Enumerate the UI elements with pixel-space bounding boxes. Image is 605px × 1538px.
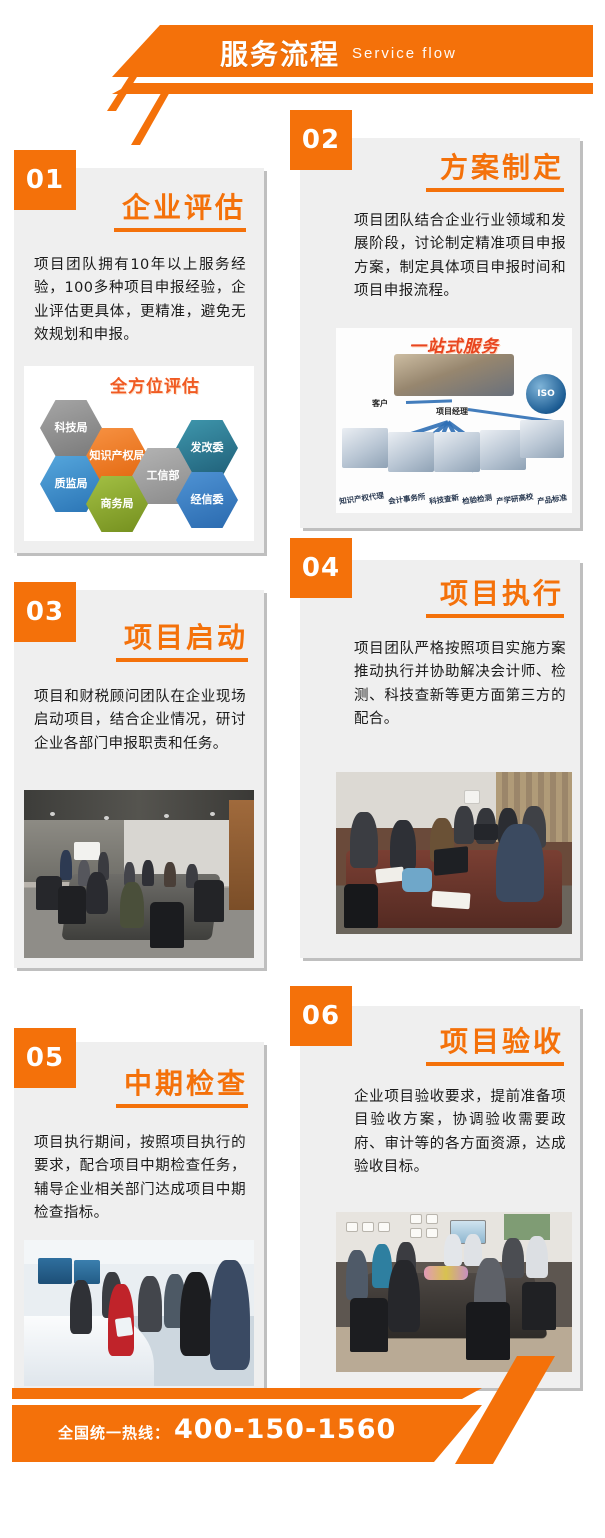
person	[502, 1238, 524, 1278]
ceiling-light	[50, 812, 55, 816]
one-stop-client-label: 客户	[372, 398, 388, 409]
card-title-rule-03	[116, 658, 248, 662]
card-title-rule-01	[114, 228, 246, 232]
document	[375, 867, 404, 884]
card-body-04: 项目团队严格按照项目实施方案推动执行并协助解决会计师、检测、科技查新等更方面第三…	[354, 638, 566, 732]
laptop	[434, 846, 468, 876]
process-card-02[interactable]: 02 方案制定 项目团队结合企业行业领域和发展阶段，讨论制定精准项目申报方案，制…	[300, 138, 580, 528]
hex-node-label: 科技局	[55, 422, 88, 435]
card-title-rule-06	[426, 1062, 564, 1066]
process-card-05[interactable]: 05 中期检查 项目执行期间，按照项目执行的要求，配合项目中期检查任务，辅导企业…	[14, 1042, 264, 1394]
ceiling-panel	[24, 790, 254, 820]
person-foreground	[496, 824, 544, 902]
hex-node-label: 经信委	[191, 494, 224, 507]
header-banner: 服务流程 Service flow	[0, 0, 605, 110]
card-title-01: 企业评估	[122, 186, 246, 226]
service-label: 产品标准	[536, 492, 567, 507]
person	[346, 1250, 368, 1300]
footer-banner: 全国统一热线： 400-150-1560	[0, 1388, 605, 1478]
service-photo-accounting	[388, 432, 434, 472]
card-header-05: 中期检查	[14, 1042, 264, 1120]
flowers	[424, 1266, 468, 1280]
person	[138, 1276, 162, 1332]
meeting-table-photo	[336, 772, 572, 934]
card-body-01: 项目团队拥有10年以上服务经验，100多种项目申报经验，企业评估更具体，更精准，…	[34, 254, 246, 348]
hex-node-label: 工信部	[147, 470, 180, 483]
wood-panel	[229, 800, 254, 910]
person-foreground	[86, 872, 108, 914]
photo-scene	[336, 1212, 572, 1372]
service-label: 检验检测	[462, 492, 493, 507]
office-chair	[344, 884, 378, 928]
office-chair	[194, 880, 224, 922]
footer-stripe	[12, 1388, 482, 1399]
process-card-03[interactable]: 03 项目启动 项目和财税顾问团队在企业现场启动项目，结合企业情况，研讨企业各部…	[14, 590, 264, 968]
person	[444, 1234, 462, 1266]
person	[60, 850, 72, 880]
conference-room-photo	[24, 790, 254, 958]
service-label: 知识产权代理	[338, 490, 384, 507]
card-title-02: 方案制定	[440, 146, 564, 186]
card-title-rule-04	[426, 614, 564, 618]
certificate-frame	[426, 1214, 438, 1224]
person	[390, 820, 416, 870]
service-photo-research	[434, 432, 480, 472]
one-stop-service-labels: 知识产权代理 会计事务所 科技查新 检验检测 产学研高校 产品标准	[340, 496, 568, 507]
office-chair	[58, 886, 86, 924]
office-chair	[466, 1302, 510, 1360]
person-foreground	[120, 882, 144, 928]
office-chair	[522, 1282, 556, 1330]
person	[454, 806, 474, 844]
photo-scene	[336, 772, 572, 934]
card-body-02: 项目团队结合企业行业领域和发展阶段，讨论制定精准项目申报方案，制定具体项目申报时…	[354, 210, 566, 304]
person	[350, 812, 378, 868]
person-foreground	[388, 1260, 420, 1332]
card-header-03: 项目启动	[14, 590, 264, 668]
one-stop-center-label: 项目经理	[436, 406, 468, 417]
laptop	[474, 824, 498, 840]
infographic-page: 服务流程 Service flow 01 企业评估 项目团队拥有10年以上服务经…	[0, 0, 605, 1538]
green-board	[504, 1214, 550, 1240]
service-label: 会计事务所	[387, 491, 426, 507]
brochure	[115, 1317, 133, 1337]
certificate-frame	[410, 1214, 422, 1224]
service-photo-university	[520, 420, 564, 458]
certificate-frame	[346, 1222, 358, 1232]
wall-display	[38, 1258, 72, 1284]
page-title: 服务流程 Service flow	[220, 30, 580, 76]
service-photo-ip	[342, 428, 388, 468]
photo-scene	[24, 790, 254, 958]
one-stop-hub-photo	[394, 354, 514, 396]
certificate-frame	[410, 1228, 422, 1238]
process-card-01[interactable]: 01 企业评估 项目团队拥有10年以上服务经验，100多种项目申报经验，企业评估…	[14, 168, 264, 553]
ceiling-light	[210, 812, 215, 816]
card-title-03: 项目启动	[124, 616, 248, 656]
hotline-number[interactable]: 400-150-1560	[174, 1414, 396, 1445]
hex-node-label: 知识产权局	[90, 450, 145, 463]
card-title-04: 项目执行	[440, 572, 564, 612]
card-header-04: 项目执行	[300, 560, 580, 638]
process-card-04[interactable]: 04 项目执行 项目团队严格按照项目实施方案推动执行并协助解决会计师、检测、科技…	[300, 560, 580, 958]
hotline-label: 全国统一热线：	[58, 1422, 170, 1443]
hex-diagram-title: 全方位评估	[110, 372, 200, 397]
card-body-03: 项目和财税顾问团队在企业现场启动项目，结合企业情况，研讨企业各部门申报职责和任务…	[34, 686, 246, 756]
boardroom-photo	[336, 1212, 572, 1372]
bag	[402, 868, 432, 892]
hex-node-label: 质监局	[55, 478, 88, 491]
person	[210, 1260, 250, 1370]
page-title-en: Service flow	[352, 45, 457, 62]
iso-seal-icon: ISO	[526, 374, 566, 414]
person	[464, 1234, 482, 1266]
page-title-cn: 服务流程	[220, 33, 340, 73]
one-stop-service-diagram: 一站式服务 客户 项目经理 ISO 知识产权代理 会计事务所 科技查新 检验检测	[336, 328, 572, 513]
document	[431, 891, 470, 910]
card-header-02: 方案制定	[300, 138, 580, 216]
office-chair	[350, 1298, 388, 1352]
card-title-rule-02	[426, 188, 564, 192]
certificate-frame	[426, 1228, 438, 1238]
hex-node-label: 商务局	[101, 498, 134, 511]
person	[526, 1236, 548, 1278]
whiteboard	[74, 842, 100, 860]
person	[180, 1272, 212, 1356]
card-header-06: 项目验收	[300, 1006, 580, 1084]
hotline: 全国统一热线： 400-150-1560	[58, 1414, 396, 1445]
card-body-05: 项目执行期间，按照项目执行的要求，配合项目中期检查任务，辅导企业相关部门达成项目…	[34, 1132, 246, 1226]
hex-node-label: 发改委	[191, 442, 224, 455]
wall-unit	[464, 790, 480, 804]
person	[164, 862, 176, 887]
service-label: 产学研高校	[495, 491, 534, 507]
card-header-01: 企业评估	[14, 168, 264, 246]
card-body-06: 企业项目验收要求，提前准备项目验收方案，协调验收需要政府、审计等的各方面资源，达…	[354, 1086, 566, 1180]
card-title-06: 项目验收	[440, 1020, 564, 1060]
person	[70, 1280, 92, 1334]
flow-arrow	[406, 399, 452, 404]
certificate-frame	[378, 1222, 390, 1232]
hex-diagram: 全方位评估 科技局 知识产权局 发改委 质监局 工信部 商务局 经信委	[24, 366, 254, 541]
certificate-frame	[362, 1222, 374, 1232]
service-label: 科技查新	[428, 492, 459, 507]
ceiling-light	[164, 814, 169, 818]
card-title-05: 中期检查	[124, 1062, 248, 1102]
photo-scene	[24, 1240, 254, 1386]
person	[142, 860, 154, 886]
office-chair	[150, 902, 184, 948]
process-card-06[interactable]: 06 项目验收 企业项目验收要求，提前准备项目验收方案，协调验收需要政府、审计等…	[300, 1006, 580, 1388]
lobby-visit-photo	[24, 1240, 254, 1386]
card-title-rule-05	[116, 1104, 248, 1108]
header-stripe	[112, 83, 593, 94]
